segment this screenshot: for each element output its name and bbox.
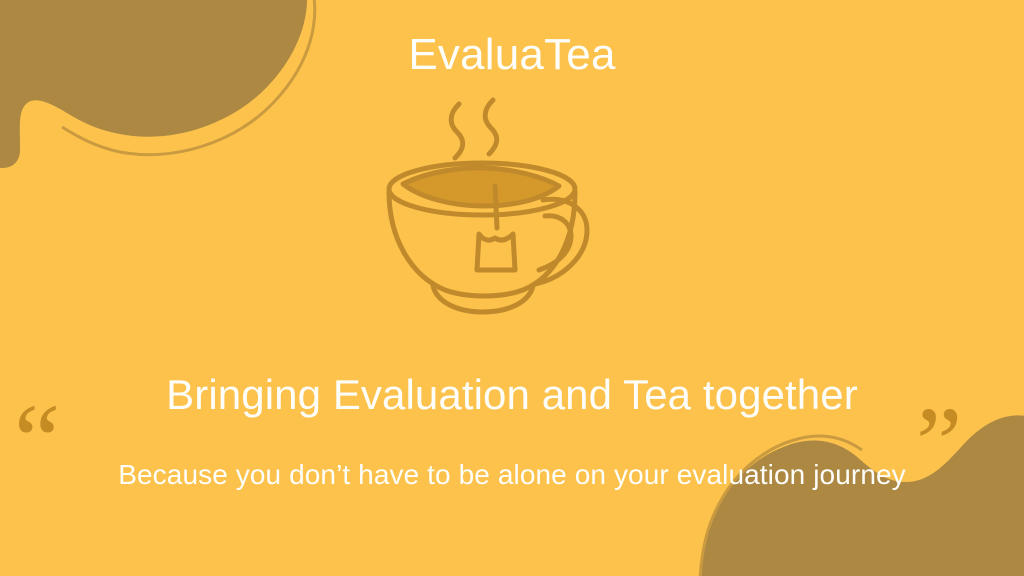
subtitle: Because you don’t have to be alone on yo… [0,459,1024,491]
headline: Bringing Evaluation and Tea together [0,371,1024,419]
steam-icon [451,104,463,158]
tea-bag-icon [477,234,515,270]
steam-icon [485,100,497,154]
blob-bottom-right-icon [700,415,1024,576]
blob-top-left-icon [0,0,307,168]
tea-surface-icon [403,168,559,206]
page-title: EvaluaTea [0,30,1024,80]
teacup-icon [373,88,613,324]
blob-bottom-right-outline-icon [700,436,862,576]
slide-canvas: EvaluaTea “ ” Bringing Evaluation and Te [0,0,1024,576]
tea-bag-string-icon [495,186,497,228]
